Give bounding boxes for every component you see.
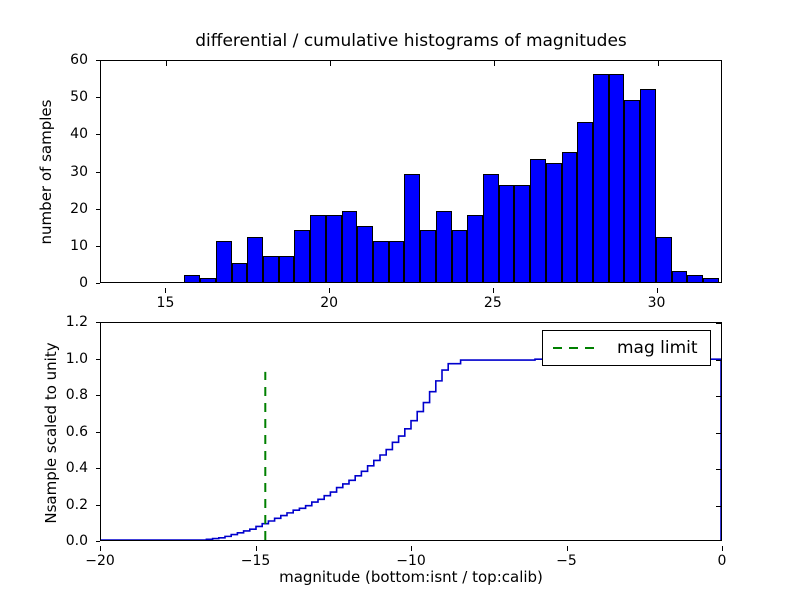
histogram-bar [452,230,468,282]
top-ytick-50: 50 [70,89,88,105]
cumulative-step-line [101,359,721,540]
histogram-bar [546,163,562,282]
top-axis-tick [166,61,167,66]
figure-canvas: differential / cumulative histograms of … [0,0,800,600]
figure-title: differential / cumulative histograms of … [100,31,722,51]
histogram-bar [373,241,389,282]
top-xtick-mark [657,288,658,293]
histogram-bar [577,122,593,282]
bottom-xtick-mark [722,546,723,551]
top-ytick-60: 60 [70,52,88,68]
histogram-bar [184,275,200,282]
bottom-right-tick [716,469,721,470]
histogram-bar [216,241,232,282]
top-panel-axes [100,60,722,283]
bottom-ytick-1.0: 1.0 [66,351,88,367]
histogram-bar [483,174,499,282]
histogram-bar [357,226,373,282]
top-xtick-mark [329,288,330,293]
mag-limit-line-icon [553,347,595,349]
bottom-ytick-0.8: 0.8 [66,387,88,403]
histogram-bar [232,263,248,282]
bottom-xtick--20: −20 [85,553,115,569]
top-xtick-20: 20 [320,295,338,311]
bottom-right-tick [716,323,721,324]
histogram-bar [703,278,719,282]
histogram-bar [326,215,342,282]
bottom-panel-axes: mag limit [100,322,722,541]
bottom-ytick-1.2: 1.2 [66,314,88,330]
bottom-xtick-mark [567,546,568,551]
histogram-bar [687,275,703,282]
top-axis-tick [658,61,659,66]
bottom-panel-xlabel: magnitude (bottom:isnt / top:calib) [100,568,722,586]
bottom-panel-ytick-labels: 0.00.20.40.60.81.01.2 [0,322,96,541]
histogram-bar [404,174,420,282]
bottom-right-tick [716,360,721,361]
histogram-bar [562,152,578,282]
bottom-xtick--10: −10 [396,553,426,569]
histogram-bar [672,271,688,282]
histogram-bar [609,74,625,282]
histogram-bar [294,230,310,282]
bottom-right-tick [716,506,721,507]
bottom-right-tick [716,396,721,397]
histogram-bar [389,241,405,282]
histogram-bar [342,211,358,282]
bottom-ytick-0.2: 0.2 [66,497,88,513]
bottom-xtick-mark [411,546,412,551]
top-xtick-mark [493,288,494,293]
bottom-xtick--15: −15 [241,553,271,569]
bottom-xtick--5: −5 [556,553,577,569]
histogram-bar [530,159,546,282]
bottom-ytick-0.6: 0.6 [66,424,88,440]
histogram-bar [499,185,515,282]
top-xtick-15: 15 [157,295,175,311]
top-xtick-mark [165,288,166,293]
histogram-bar [279,256,295,282]
top-axis-tick [494,61,495,66]
histogram-bar [200,278,216,282]
top-xtick-30: 30 [648,295,666,311]
histogram-plot-area [101,61,721,282]
bottom-xtick-mark [256,546,257,551]
histogram-bar [593,74,609,282]
histogram-bar [624,100,640,282]
histogram-bar [436,211,452,282]
histogram-bar [420,230,436,282]
top-panel-xtick-labels: 15202530 [0,288,800,308]
bottom-ytick-0.4: 0.4 [66,460,88,476]
histogram-bar [640,89,656,282]
histogram-bar [263,256,279,282]
legend-box[interactable]: mag limit [542,330,711,366]
legend-entry-mag-limit: mag limit [617,338,698,358]
top-axis-tick [330,61,331,66]
histogram-bar [656,237,672,282]
bottom-ytick-mark [96,541,100,542]
top-ytick-mark [96,283,100,284]
top-ytick-20: 20 [70,201,88,217]
top-panel-ytick-labels: 0102030405060 [0,60,96,283]
top-ytick-40: 40 [70,126,88,142]
histogram-bar [310,215,326,282]
histogram-bar [467,215,483,282]
bottom-panel-xtick-labels: −20−15−10−50 [0,546,800,566]
histogram-bar [514,185,530,282]
top-ytick-10: 10 [70,238,88,254]
top-ytick-30: 30 [70,164,88,180]
bottom-right-tick [716,433,721,434]
top-xtick-25: 25 [484,295,502,311]
bottom-xtick-mark [100,546,101,551]
histogram-bar [247,237,263,282]
bottom-xtick-0: 0 [718,553,727,569]
